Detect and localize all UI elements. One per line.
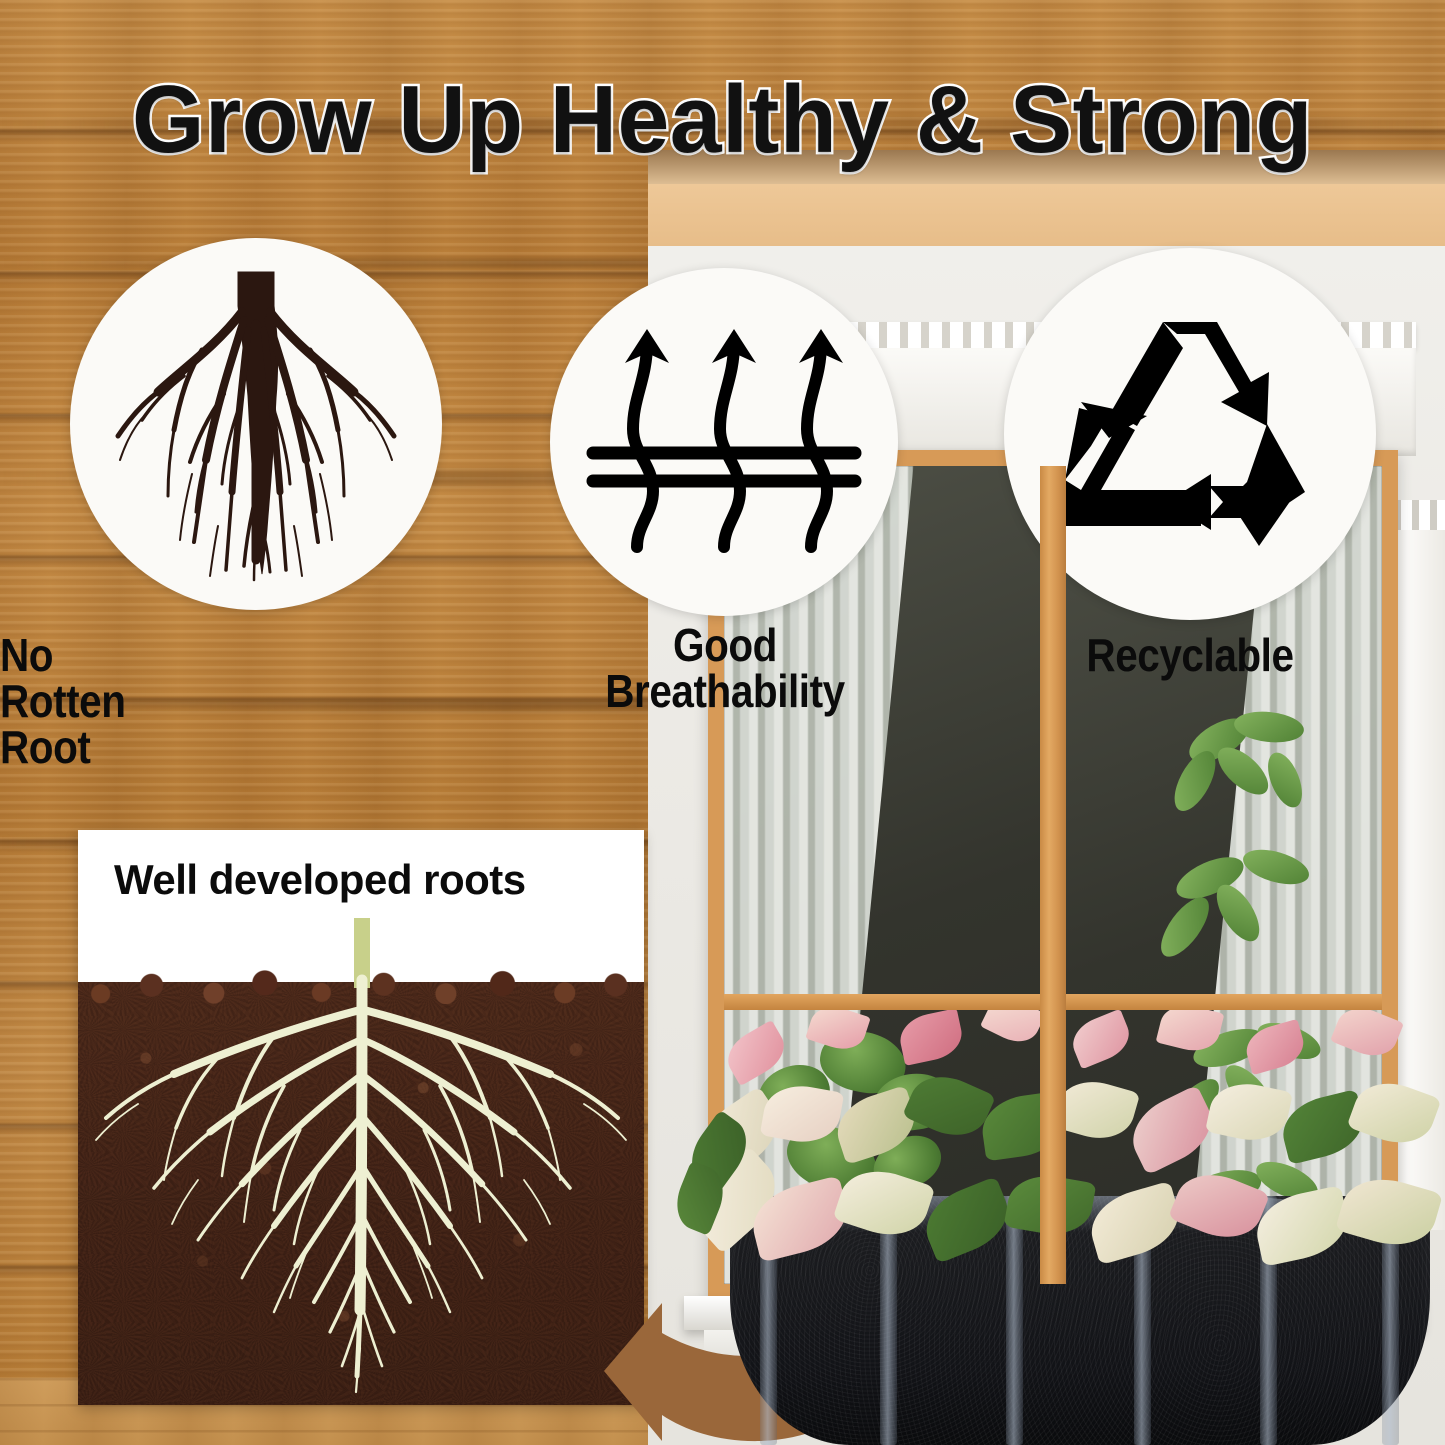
inset-title: Well developed roots	[114, 856, 526, 904]
page-title: Grow Up Healthy & Strong	[22, 72, 1424, 168]
well-developed-roots-inset: Well developed roots	[78, 830, 644, 1405]
plant-leaf	[720, 1020, 793, 1086]
plant-leaf	[1241, 1019, 1308, 1075]
plant-leaf	[1066, 1009, 1136, 1070]
window-mullion	[1040, 466, 1066, 1284]
feature-icon-circle	[550, 268, 898, 616]
window-muntin	[1066, 994, 1382, 1010]
plant-leaf	[833, 1160, 936, 1246]
recycling-triangle-icon	[1051, 304, 1329, 564]
plant-leaf	[1335, 1168, 1443, 1255]
feature-label: Recyclable	[1026, 632, 1353, 678]
plant-leaf	[896, 1008, 966, 1066]
plant-root-system-icon	[106, 264, 406, 584]
plant-leaf	[1346, 1072, 1441, 1154]
feature-label: Good Breathability	[474, 622, 976, 714]
feature-icon-circle	[70, 238, 442, 610]
plant-leaf	[1083, 1181, 1187, 1265]
developed-root-system-illustration	[78, 918, 644, 1405]
plant-leaf	[1168, 1162, 1270, 1250]
variegated-foliage-plants	[690, 1000, 1445, 1330]
window-muntin	[724, 994, 1040, 1010]
eave-trim-board	[648, 184, 1445, 246]
airflow-arrows-through-fabric-icon	[585, 313, 863, 571]
plant-leaf	[1205, 1077, 1293, 1148]
